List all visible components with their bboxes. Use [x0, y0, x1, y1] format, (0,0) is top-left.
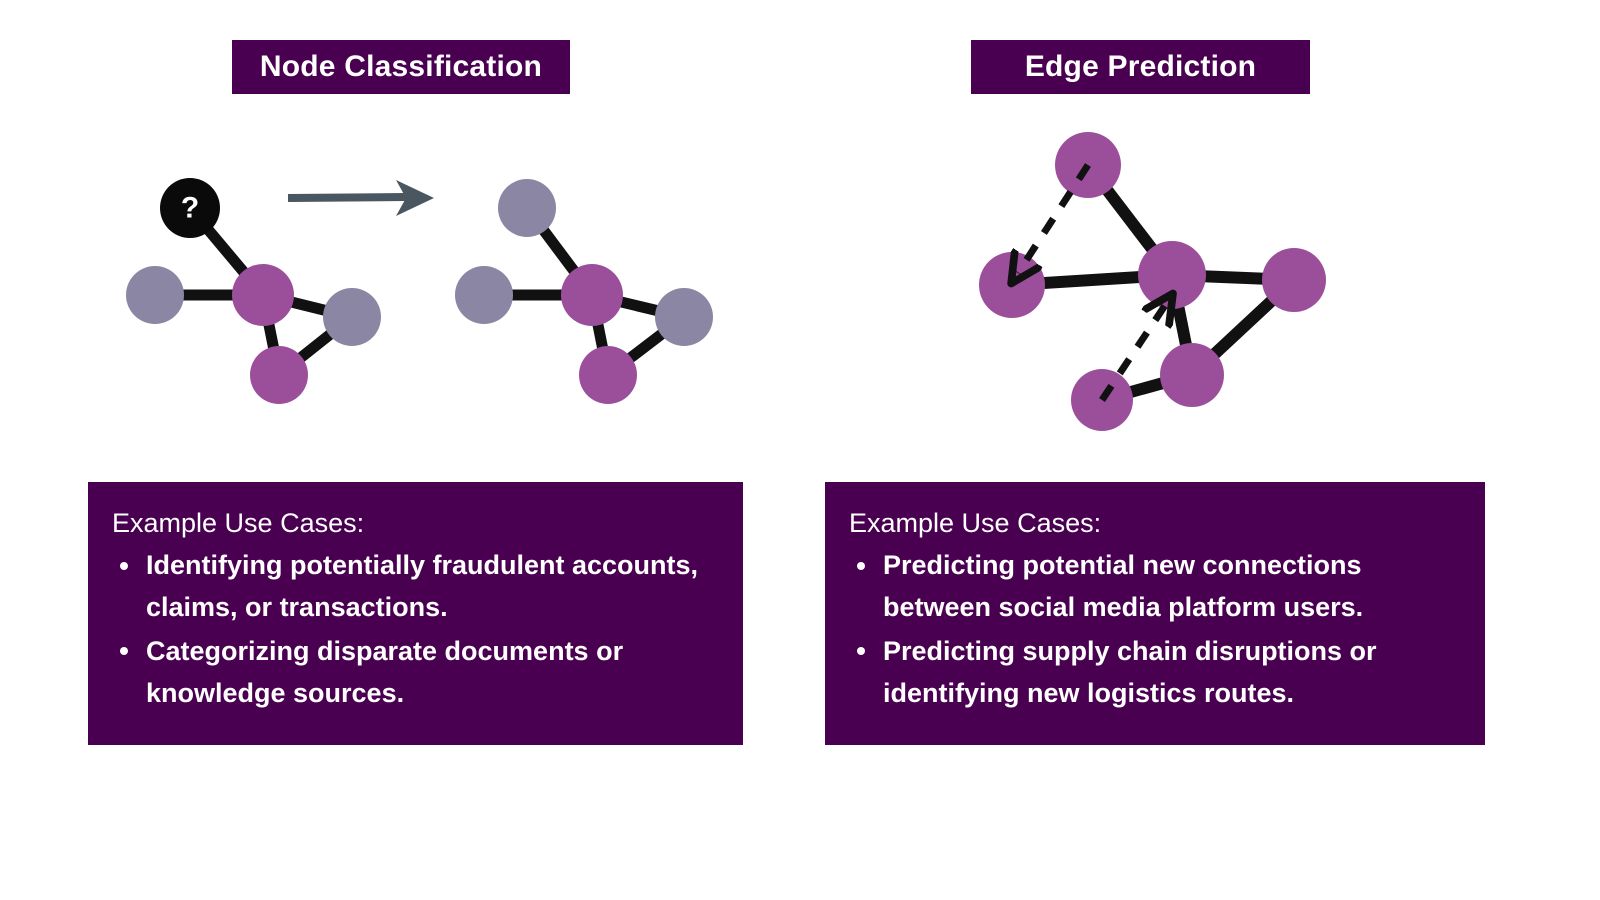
node-classification-graph: ?	[0, 110, 800, 450]
usecase-heading: Example Use Cases:	[112, 508, 719, 539]
usecase-text: Predicting potential new connections bet…	[883, 550, 1363, 622]
node-center	[1138, 241, 1206, 309]
node-classified-gray	[498, 179, 556, 237]
node-bottom-purple	[579, 346, 637, 404]
node-unknown-question-mark: ?	[181, 192, 199, 225]
node-right	[1262, 248, 1326, 312]
usecase-box-edge-prediction: Example Use Cases: Predicting potential …	[825, 482, 1485, 745]
panel-title-node-classification: Node Classification	[232, 40, 570, 94]
bullet-icon	[857, 562, 865, 570]
transition-arrow	[288, 180, 434, 216]
node-left-gray	[455, 266, 513, 324]
list-item: Predicting potential new connections bet…	[849, 545, 1461, 629]
node-right-gray	[655, 288, 713, 346]
usecase-box-node-classification: Example Use Cases: Identifying potential…	[88, 482, 743, 745]
edge-prediction-panel: Edge Prediction	[800, 0, 1600, 900]
node-right-gray	[323, 288, 381, 346]
graph-nodes	[455, 179, 713, 404]
bullet-icon	[857, 647, 865, 655]
graph-nodes: ?	[126, 178, 381, 404]
usecase-heading: Example Use Cases:	[849, 508, 1461, 539]
node-bottom-purple	[250, 346, 308, 404]
list-item: Categorizing disparate documents or know…	[112, 631, 719, 715]
panel-title-edge-prediction: Edge Prediction	[971, 40, 1310, 94]
edge-prediction-graph	[800, 110, 1600, 450]
node-left	[979, 252, 1045, 318]
graph-before-classification: ?	[126, 178, 381, 404]
node-center-purple	[561, 264, 623, 326]
node-center-purple	[232, 264, 294, 326]
node-bottom	[1160, 343, 1224, 407]
usecase-text: Categorizing disparate documents or know…	[146, 636, 623, 708]
graph-after-classification	[455, 179, 713, 404]
node-left-gray	[126, 266, 184, 324]
usecase-text: Predicting supply chain disruptions or i…	[883, 636, 1377, 708]
list-item: Predicting supply chain disruptions or i…	[849, 631, 1461, 715]
bullet-icon	[120, 647, 128, 655]
usecase-list: Predicting potential new connections bet…	[849, 545, 1461, 714]
list-item: Identifying potentially fraudulent accou…	[112, 545, 719, 629]
node-classification-panel: Node Classification ?	[0, 0, 800, 900]
usecase-list: Identifying potentially fraudulent accou…	[112, 545, 719, 714]
usecase-text: Identifying potentially fraudulent accou…	[146, 550, 698, 622]
bullet-icon	[120, 562, 128, 570]
